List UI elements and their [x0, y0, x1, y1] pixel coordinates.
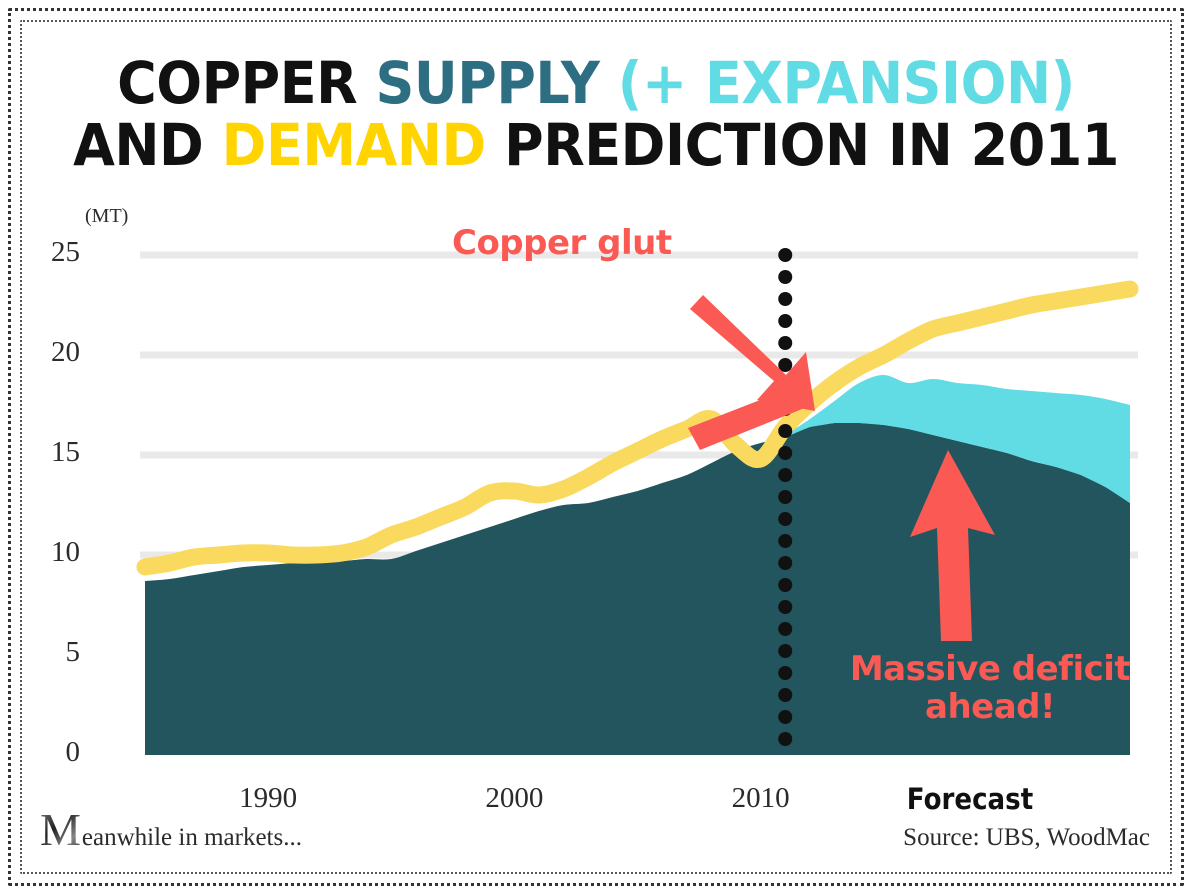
- forecast-divider-dot: [778, 578, 792, 592]
- forecast-label: Forecast: [889, 782, 1051, 816]
- annotation-massive-deficit: Massive deficit ahead!: [840, 650, 1140, 726]
- annotation-deficit-line2: ahead!: [840, 688, 1140, 726]
- forecast-divider-dot: [778, 336, 792, 350]
- forecast-divider-dot: [778, 600, 792, 614]
- forecast-divider-line: [778, 248, 792, 746]
- forecast-divider-dot: [778, 292, 792, 306]
- x-axis-tick-label: 2000: [454, 782, 574, 815]
- forecast-divider-dot: [778, 512, 792, 526]
- y-axis-tick-label: 5: [20, 636, 80, 669]
- y-axis-tick-label: 15: [20, 436, 80, 469]
- source-credit: Source: UBS, WoodMac: [903, 824, 1150, 852]
- y-axis-tick-label: 25: [20, 236, 80, 269]
- chart-svg: [0, 0, 1192, 894]
- forecast-divider-dot: [778, 248, 792, 262]
- y-axis-tick-label: 10: [20, 536, 80, 569]
- y-axis-tick-label: 20: [20, 336, 80, 369]
- forecast-divider-dot: [778, 424, 792, 438]
- logo-wordmark: eanwhile in markets...: [82, 824, 302, 852]
- x-axis-tick-label: 2010: [701, 782, 821, 815]
- logo-initial-m: M: [40, 810, 81, 850]
- chart-area: (MT) 2520151050 199020002010 Forecast Co…: [0, 0, 1192, 894]
- annotation-copper-glut: Copper glut: [452, 224, 672, 262]
- forecast-divider-dot: [778, 710, 792, 724]
- forecast-divider-dot: [778, 314, 792, 328]
- y-axis-tick-label: 0: [20, 736, 80, 769]
- forecast-divider-dot: [778, 534, 792, 548]
- annotation-deficit-line1: Massive deficit: [840, 650, 1140, 688]
- brand-logo: M eanwhile in markets...: [40, 810, 302, 852]
- forecast-divider-dot: [778, 556, 792, 570]
- forecast-divider-dot: [778, 490, 792, 504]
- forecast-divider-dot: [778, 270, 792, 284]
- forecast-divider-dot: [778, 446, 792, 460]
- forecast-divider-dot: [778, 468, 792, 482]
- forecast-divider-dot: [778, 732, 792, 746]
- forecast-divider-dot: [778, 622, 792, 636]
- forecast-divider-dot: [778, 666, 792, 680]
- infographic-frame: COPPER SUPPLY (+ EXPANSION) AND DEMAND P…: [0, 0, 1192, 894]
- forecast-divider-dot: [778, 644, 792, 658]
- forecast-divider-dot: [778, 688, 792, 702]
